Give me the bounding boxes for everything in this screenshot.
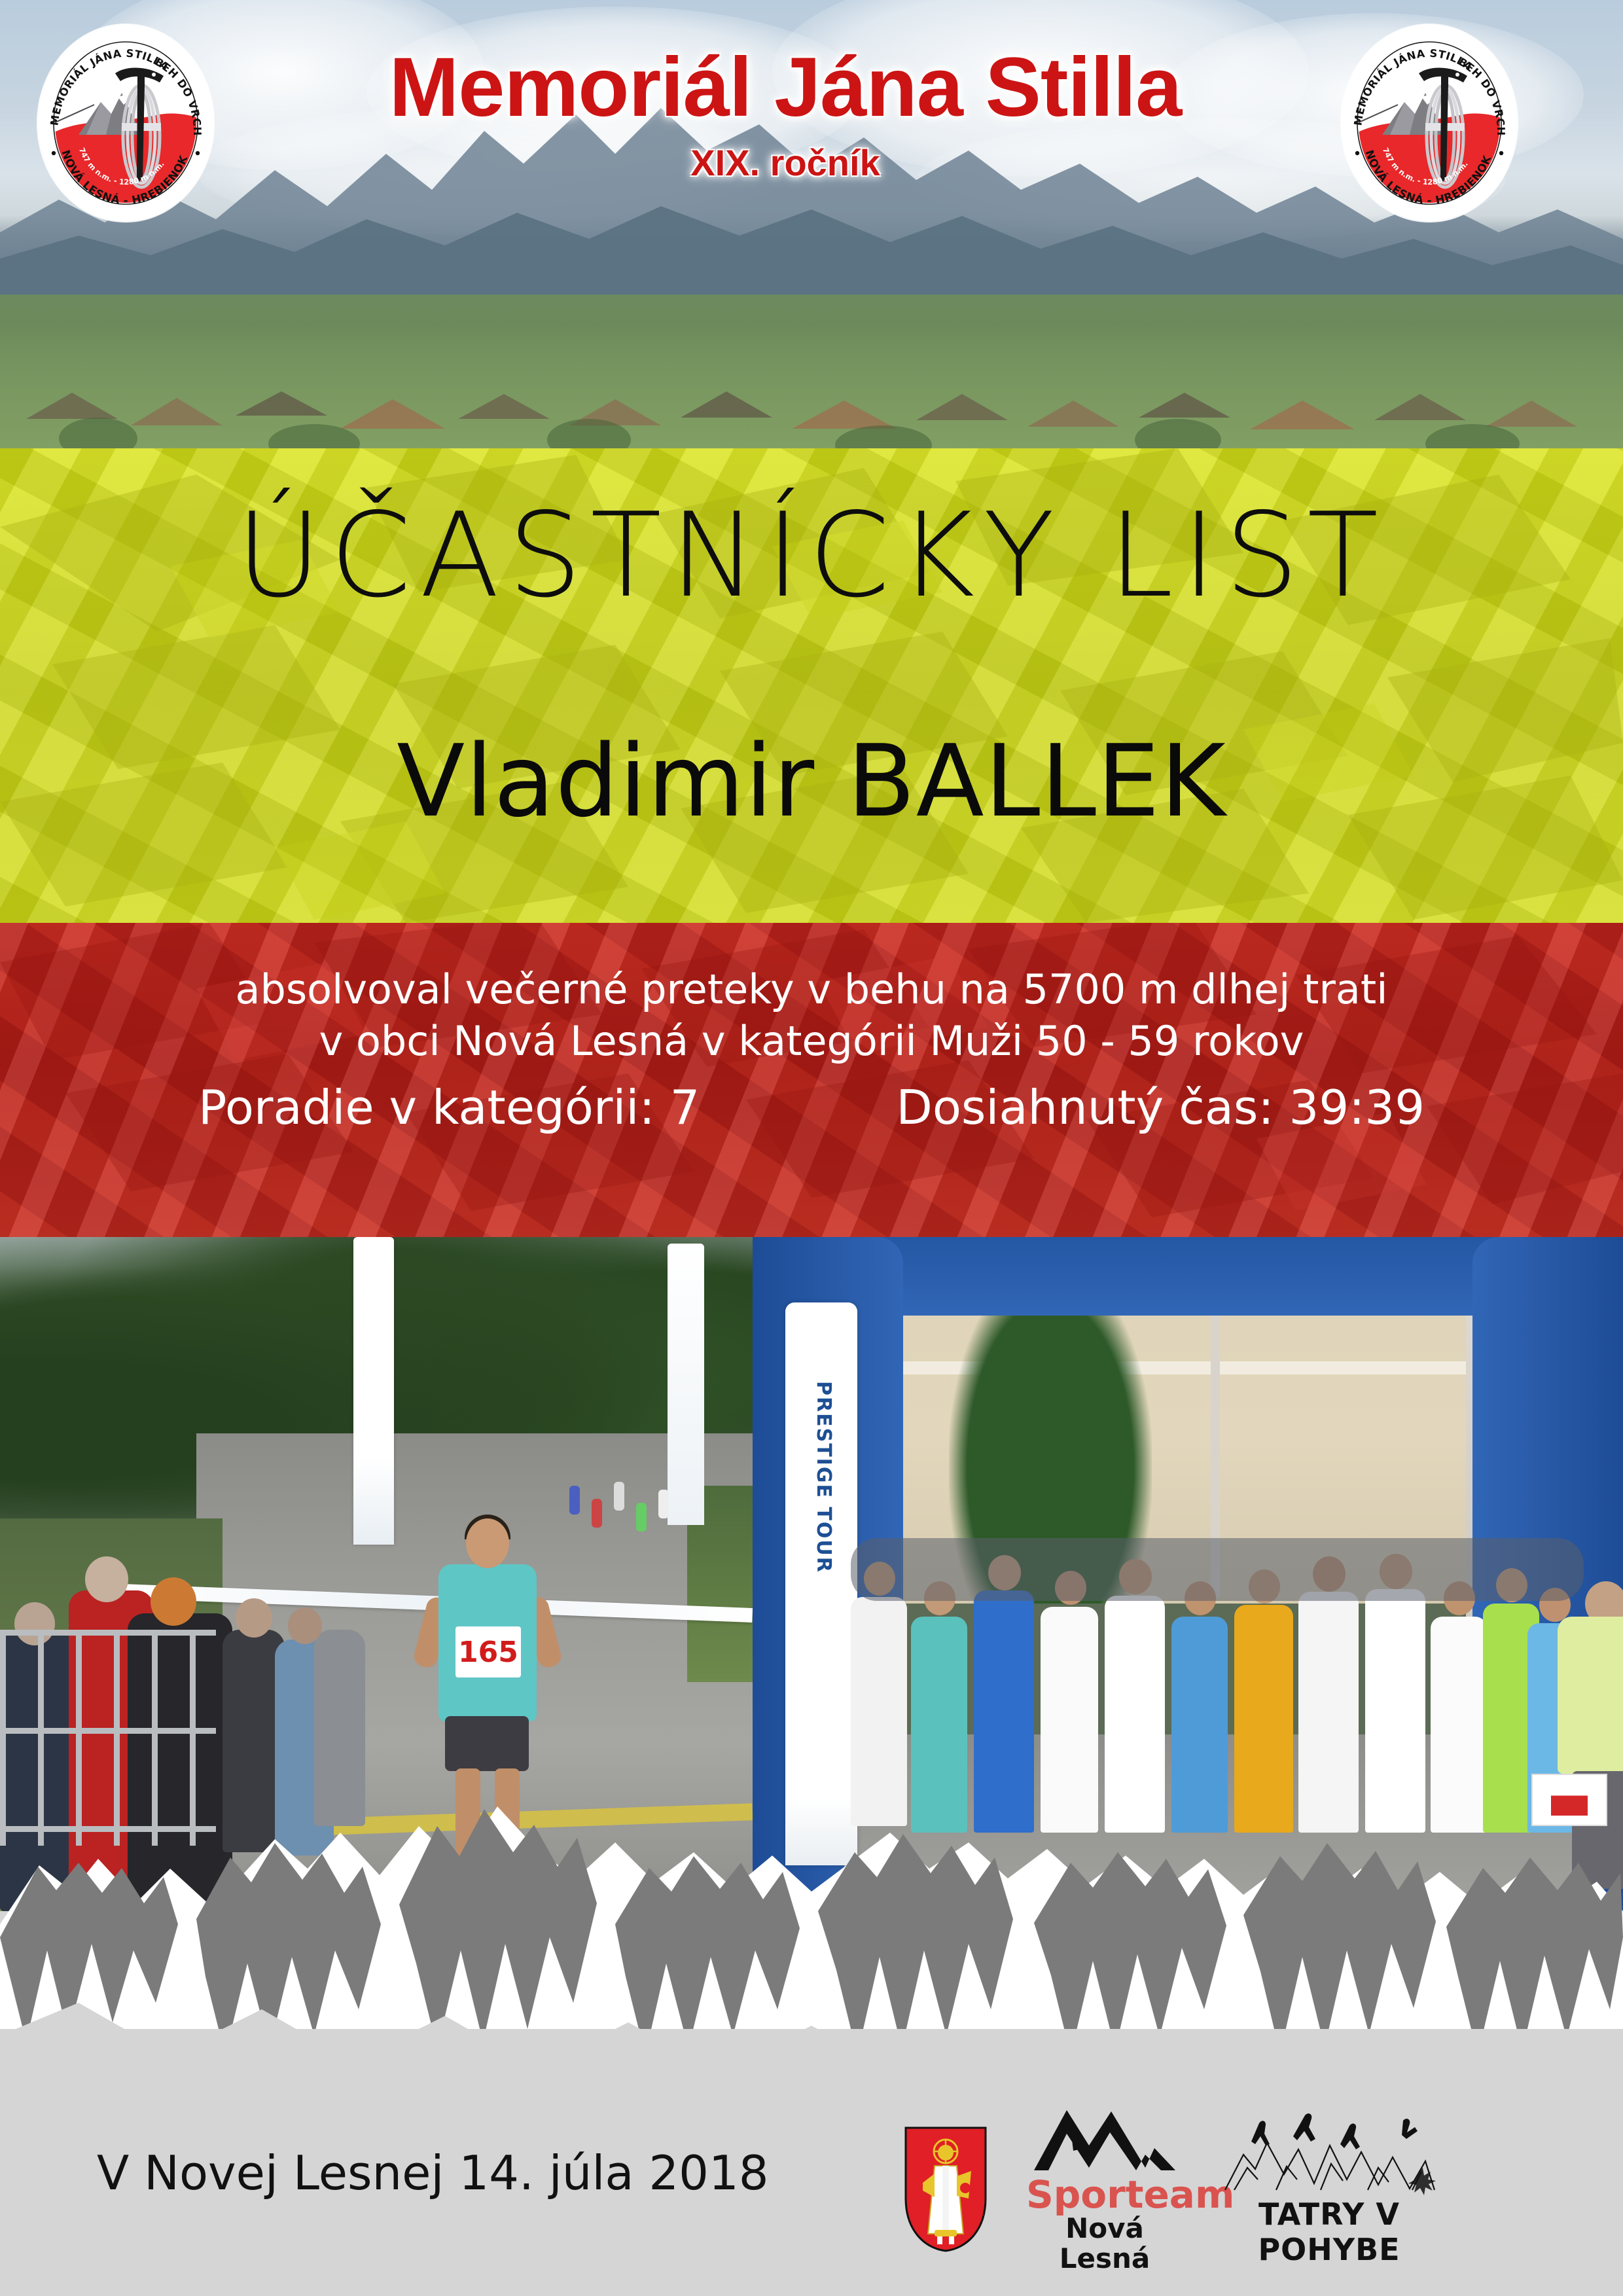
- sponsor-logos: Sporteam Nová Lesná: [903, 2108, 1558, 2271]
- certificate-description: absolvoval večerné preteky v behu na 570…: [0, 963, 1623, 1067]
- crowd-mass-behind: [851, 1538, 1584, 1601]
- red-band: absolvoval večerné preteky v behu na 570…: [0, 923, 1623, 1237]
- sporteam-mountain-mark: [1026, 2105, 1183, 2173]
- place-and-date: V Novej Lesnej 14. júla 2018: [97, 2145, 769, 2200]
- athlete-name: Vladimir BALLEK: [0, 723, 1623, 839]
- finish-time: Dosiahnutý čas: 39:39: [896, 1080, 1425, 1135]
- description-line-2: v obci Nová Lesná v kategórii Muži 50 - …: [0, 1015, 1623, 1067]
- event-title-block: Memoriál Jána Stilla XIX. ročník: [236, 46, 1335, 184]
- runner-bib-number: 165: [455, 1626, 521, 1677]
- footer: V Novej Lesnej 14. júla 2018: [0, 2029, 1623, 2296]
- spectator-head: [236, 1598, 272, 1638]
- header-panorama: MEMORIÁL JÁNA STILLA BEH DO VRCHU NOVÁ L…: [0, 0, 1623, 458]
- document-heading: ÚČASTNÍCKY LIST: [0, 488, 1623, 623]
- event-title: Memoriál Jána Stilla: [236, 46, 1335, 130]
- nova-lesna-coat-of-arms: [903, 2125, 988, 2253]
- certificate-poster: MEMORIÁL JÁNA STILLA BEH DO VRCHU NOVÁ L…: [0, 0, 1623, 2296]
- distant-runners: [563, 1473, 687, 1590]
- spectator-head: [85, 1556, 128, 1602]
- sporteam-location: Nová Lesná: [1026, 2214, 1183, 2274]
- runner-head: [466, 1518, 509, 1568]
- sponsor-flag-banner: [353, 1237, 394, 1545]
- tatry-name: TATRY V POHYBE: [1221, 2197, 1437, 2267]
- rank-in-category: Poradie v kategórii: 7: [198, 1080, 700, 1135]
- event-edition: XIX. ročník: [236, 141, 1335, 184]
- results-row: Poradie v kategórii: 7 Dosiahnutý čas: 3…: [0, 1080, 1623, 1135]
- inflatable-arch-top: [825, 1237, 1551, 1316]
- tatry-peaks-mark: [1221, 2111, 1437, 2197]
- tatry-v-pohybe-logo: TATRY V POHYBE: [1221, 2111, 1437, 2267]
- sporteam-name: Sporteam: [1026, 2176, 1183, 2214]
- banner-text: PRESTIGE TOUR: [805, 1381, 835, 1604]
- event-emblem-right: MEMORIÁL JÁNA STILLA BEH DO VRCHU NOVÁ L…: [1342, 25, 1517, 221]
- spectator-head: [151, 1577, 196, 1626]
- description-line-1: absolvoval večerné preteky v behu na 570…: [0, 963, 1623, 1015]
- village-rooftops: [0, 321, 1623, 458]
- yellow-band: ÚČASTNÍCKY LIST Vladimir BALLEK: [0, 448, 1623, 923]
- sporteam-logo: Sporteam Nová Lesná: [1026, 2105, 1183, 2274]
- spectator-head: [288, 1607, 322, 1644]
- event-emblem-left: MEMORIÁL JÁNA STILLA BEH DO VRCHU NOVÁ L…: [38, 25, 213, 221]
